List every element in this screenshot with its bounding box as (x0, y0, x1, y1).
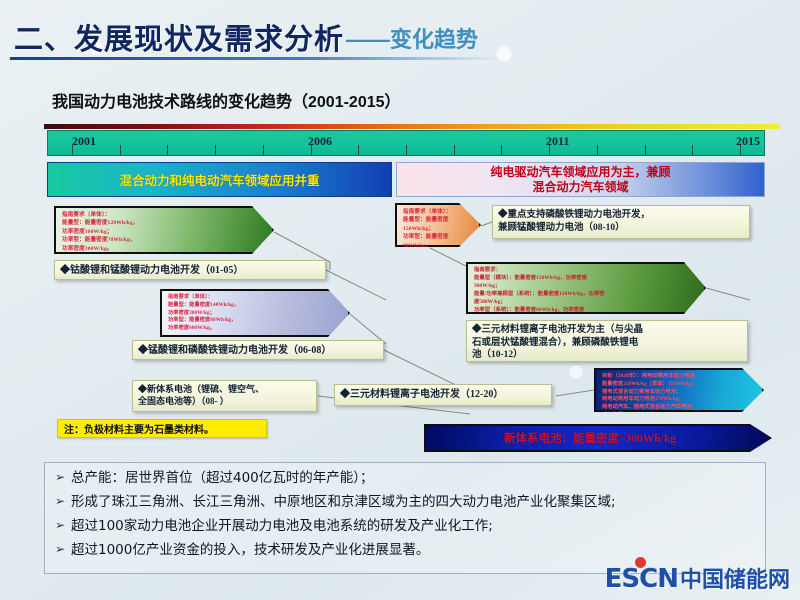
summary-bullet-text: 形成了珠江三角洲、长江三角洲、中原地区和京津区域为主的四大动力电池产业化聚集区域… (71, 494, 616, 511)
timeline-tick (120, 145, 121, 155)
spec-arrow-blue-2-text: 新体系电池：能量密度>300Wh/kg (504, 430, 692, 446)
summary-bullet: ➢总产能：居世界首位（超过400亿瓦时的年产能）； (55, 470, 755, 487)
footnote-highlight: 注：负极材料主要为石墨类材料。 (57, 419, 267, 438)
spec-arrow-orange-text: 指南要求（单体）：能量型：能量密度150Wh/kg；功率型：能量密度90Wh/k… (397, 205, 479, 252)
page-subtitle: ——变化趋势 (346, 22, 478, 54)
timeline-tick (406, 145, 407, 155)
bullet-arrow-icon: ➢ (55, 542, 71, 557)
chart-title: 我国动力电池技术路线的变化趋势（2001-2015） (52, 88, 401, 112)
era-banner-right: 纯电驱动汽车领域应用为主，兼顾混合动力汽车领域 (396, 162, 765, 197)
spec-arrow-purple-text: 指南要求（单体）：能量型：能量密度140Wh/kg，功率密度300W/kg；功率… (162, 291, 348, 335)
timeline-tick (692, 145, 693, 155)
timeline-axis: 2001200620112015 (47, 130, 765, 156)
spec-arrow-green-2-text: 指南要求：能量型（模块）：能量密度150Wh/kg，功率密度300W/kg；能量… (468, 264, 704, 325)
summary-bullet: ➢超过1000亿产业资金的投入，技术研发及产业化进展显著。 (55, 542, 755, 559)
spec-arrow-green-2: 指南要求：能量型（模块）：能量密度150Wh/kg，功率密度300W/kg；能量… (466, 262, 706, 314)
timeline-year-label: 2006 (308, 134, 332, 149)
watermark-dot-icon (635, 557, 646, 568)
callout-box: ◆新体系电池（锂硫、锂空气、全固态电池等）（08- ） (132, 380, 317, 412)
spec-arrow-blue-2: 新体系电池：能量密度>300Wh/kg (424, 424, 772, 452)
timeline-year-label: 2001 (72, 134, 96, 149)
callout-box: ◆锰酸锂和磷酸铁锂动力电池开发（06-08） (132, 340, 384, 360)
bullet-arrow-icon: ➢ (55, 494, 71, 509)
era-banner-right-label: 纯电驱动汽车领域应用为主，兼顾混合动力汽车领域 (490, 165, 670, 195)
summary-bullet-text: 总产能：居世界首位（超过400亿瓦时的年产能）； (71, 470, 374, 487)
watermark: ESCN 中国储能网 (605, 562, 790, 594)
watermark-brand-en: ESCN (605, 564, 678, 594)
era-banner-left: 混合动力和纯电动汽车领域应用并重 (47, 162, 392, 197)
title-underline (10, 57, 500, 60)
summary-bullet-text: 超过1000亿产业资金的投入，技术研发及产业化进展显著。 (71, 542, 429, 559)
page-title: 二、发展现状及需求分析 (14, 16, 344, 58)
spec-arrow-blue-1-text: 目标（2020年）：纯电动乘用车动力电池能量密度250Wh/kg（单体）350W… (596, 370, 762, 422)
summary-bullet: ➢形成了珠江三角洲、长江三角洲、中原地区和京津区域为主的四大动力电池产业化聚集区… (55, 494, 755, 511)
bullet-arrow-icon: ➢ (55, 518, 71, 533)
summary-bullet: ➢超过100家动力电池企业开展动力电池及电池系统的研发及产业化工作; (55, 518, 755, 535)
era-banner-left-label: 混合动力和纯电动汽车领域应用并重 (119, 170, 319, 189)
spec-arrow-orange: 指南要求（单体）：能量型：能量密度150Wh/kg；功率型：能量密度90Wh/k… (395, 203, 481, 247)
timeline-year-label: 2011 (546, 134, 569, 149)
timeline-tick (454, 145, 455, 155)
timeline-tick (597, 145, 598, 155)
rainbow-divider (44, 124, 780, 129)
slide-header: 二、发展现状及需求分析 ——变化趋势 (0, 0, 800, 62)
callout-box: ◆钴酸锂和锰酸锂动力电池开发（01-05） (54, 260, 326, 280)
spec-arrow-green-1: 指南要求（单体）：能量型：能量密度120Wh/kg，功率密度160W/kg；功率… (54, 206, 274, 254)
watermark-brand-cn: 中国储能网 (680, 562, 790, 594)
slide-canvas: 二、发展现状及需求分析 ——变化趋势 我国动力电池技术路线的变化趋势（2001-… (0, 0, 800, 600)
bullet-arrow-icon: ➢ (55, 470, 71, 485)
timeline-tick (645, 145, 646, 155)
summary-bullet-text: 超过100家动力电池企业开展动力电池及电池系统的研发及产业化工作; (71, 518, 493, 535)
callout-box: ◆三元材料锂离子电池开发（12-20） (334, 384, 552, 406)
timeline-tick (215, 145, 216, 155)
spec-arrow-blue-1: 目标（2020年）：纯电动乘用车动力电池能量密度250Wh/kg（单体）350W… (594, 368, 764, 412)
timeline-tick (501, 145, 502, 155)
timeline-tick (358, 145, 359, 155)
timeline-tick (167, 145, 168, 155)
spec-arrow-green-1-text: 指南要求（单体）：能量型：能量密度120Wh/kg，功率密度160W/kg；功率… (56, 208, 272, 255)
summary-panel: ➢总产能：居世界首位（超过400亿瓦时的年产能）；➢形成了珠江三角洲、长江三角洲… (44, 462, 766, 574)
timeline-tick (263, 145, 264, 155)
spec-arrow-purple: 指南要求（单体）：能量型：能量密度140Wh/kg，功率密度300W/kg；功率… (160, 289, 350, 337)
callout-box: ◆重点支持磷酸铁锂动力电池开发，兼顾锰酸锂动力电池（08-10） (492, 205, 750, 239)
timeline-year-label: 2015 (736, 134, 760, 149)
callout-box: ◆三元材料锂离子电池开发为主（与尖晶石或层状锰酸锂混合），兼顾磷酸铁锂电池（10… (466, 320, 748, 362)
